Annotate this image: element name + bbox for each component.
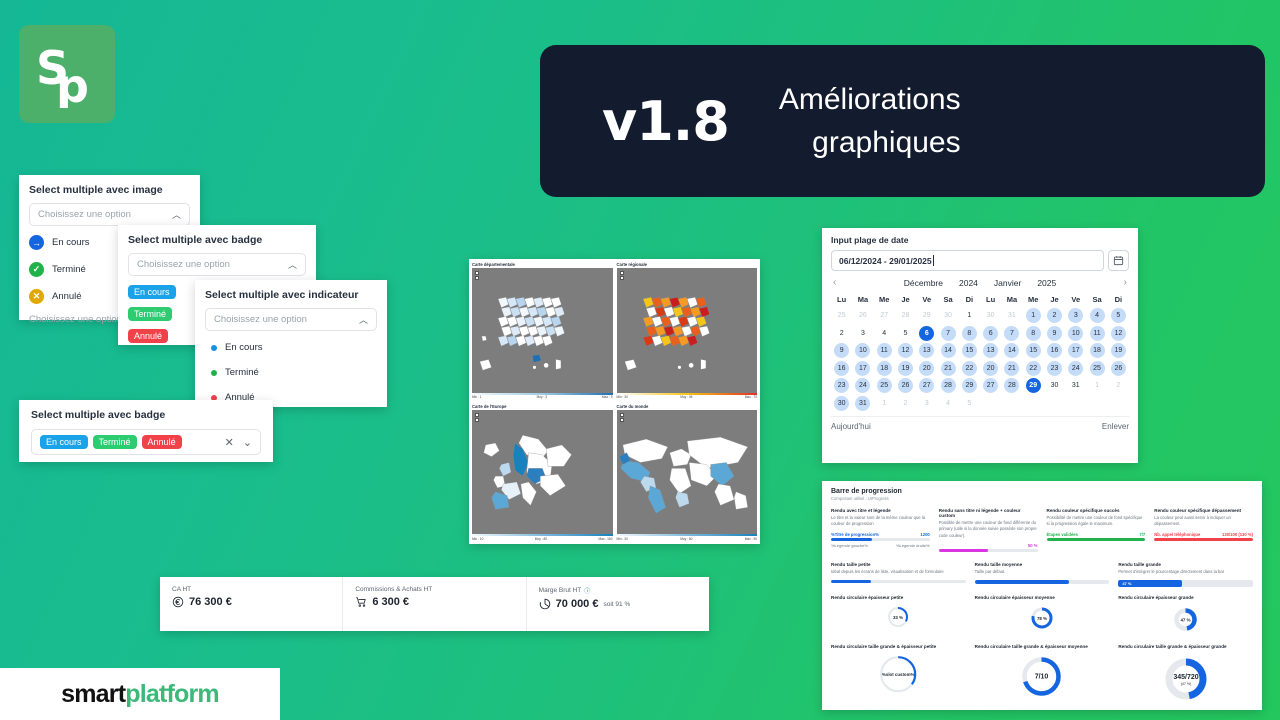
- calendar-day[interactable]: 31: [855, 396, 870, 411]
- calendar-day[interactable]: 27: [919, 378, 934, 393]
- calendar-day[interactable]: 1: [1090, 378, 1105, 393]
- banner-text: Améliorations graphiques: [779, 78, 961, 165]
- calendar-cell[interactable]: 20: [916, 360, 937, 378]
- calendar-day[interactable]: 28: [898, 308, 913, 323]
- right-month-label[interactable]: Janvier: [994, 278, 1021, 288]
- calendar-day[interactable]: 10: [855, 343, 870, 358]
- weekday-header: Je: [895, 292, 916, 307]
- map-canvas[interactable]: [617, 268, 758, 393]
- calendar-cell[interactable]: 14: [937, 342, 958, 360]
- selected-badge[interactable]: En cours: [40, 435, 88, 449]
- calendar-day[interactable]: 17: [855, 361, 870, 376]
- calendar-cell[interactable]: 26: [1108, 360, 1129, 378]
- calendar-day[interactable]: 16: [1047, 343, 1062, 358]
- calendar-day[interactable]: 2: [1047, 308, 1062, 323]
- sp-logo-icon: S p: [36, 40, 98, 108]
- calendar-cell[interactable]: 28: [1001, 377, 1022, 395]
- calendar-cell[interactable]: 5: [1108, 307, 1129, 325]
- calendar-day[interactable]: 29: [962, 378, 977, 393]
- calendar-cell[interactable]: 9: [831, 342, 852, 360]
- calendar-cell[interactable]: [1023, 395, 1044, 413]
- calendar-day[interactable]: 19: [898, 361, 913, 376]
- calendar-cell[interactable]: 5: [959, 395, 980, 413]
- left-year-label[interactable]: 2024: [959, 278, 978, 288]
- calendar-cell[interactable]: 25: [1086, 360, 1107, 378]
- month-year-labels: Décembre 2024 Janvier 2025: [836, 278, 1123, 288]
- progress-ring-item: Rendu circulaire taille grande & épaisse…: [831, 644, 966, 706]
- progress-ring: 33 %: [884, 603, 912, 631]
- calendar-cell[interactable]: 6: [980, 325, 1001, 343]
- calendar-nav: ‹ Décembre 2024 Janvier 2025 ›: [831, 277, 1129, 288]
- calendar-day[interactable]: 10: [1068, 326, 1083, 341]
- cart-icon: [355, 596, 367, 608]
- progress-rings-large-row: Rendu circulaire taille grande & épaisse…: [831, 644, 1253, 706]
- legend-mid: Moy : 80: [535, 537, 547, 541]
- calendar-day[interactable]: 4: [941, 396, 956, 411]
- calendar-day[interactable]: 22: [962, 361, 977, 376]
- calendar-day[interactable]: 18: [877, 361, 892, 376]
- calendar-cell[interactable]: 11: [874, 342, 895, 360]
- weekday-header: Lu: [831, 292, 852, 307]
- calendar-cell[interactable]: 28: [895, 307, 916, 325]
- calendar-day[interactable]: 5: [898, 326, 913, 341]
- progress-bar-item: Rendu sans titre ni légende + couleur cu…: [939, 508, 1038, 554]
- calendar-day[interactable]: 11: [877, 343, 892, 358]
- legend-max: Max : 70: [745, 395, 757, 399]
- ring-label: 47 %: [1181, 617, 1191, 622]
- option-indicator-icon: [211, 370, 217, 376]
- calendar-day[interactable]: 3: [855, 326, 870, 341]
- calendar-day[interactable]: 7: [941, 326, 956, 341]
- calendar-day[interactable]: 24: [1068, 361, 1083, 376]
- version-label: v1.8: [602, 90, 729, 153]
- progress-right-label: 1200: [920, 532, 929, 537]
- card-title: Select multiple avec badge: [31, 409, 261, 421]
- calendar-cell[interactable]: 1: [1086, 377, 1107, 395]
- calendar-cell[interactable]: [1065, 395, 1086, 413]
- calendar-day[interactable]: 3: [1068, 308, 1083, 323]
- calendar-cell[interactable]: 5: [895, 325, 916, 343]
- calendar-day[interactable]: 30: [941, 308, 956, 323]
- calendar-cell[interactable]: 31: [852, 395, 873, 413]
- calendar-cell[interactable]: 16: [1044, 342, 1065, 360]
- calendar-day[interactable]: 8: [1026, 326, 1041, 341]
- calendar-cell[interactable]: 25: [874, 377, 895, 395]
- calendar-day[interactable]: 1: [877, 396, 892, 411]
- calendar-day[interactable]: 27: [983, 378, 998, 393]
- select-placeholder: Choisissez une option: [137, 259, 230, 270]
- progress-sub-right: %Légende droite%: [896, 543, 930, 548]
- calendar-cell[interactable]: 17: [1065, 342, 1086, 360]
- map-zoom-controls[interactable]: [620, 271, 624, 280]
- calendar-cell[interactable]: 13: [980, 342, 1001, 360]
- clear-button[interactable]: Enlever: [1102, 422, 1129, 431]
- calendar-day[interactable]: 28: [941, 378, 956, 393]
- map-title: Carte régionale: [617, 262, 758, 267]
- select-option-badge[interactable]: Terminé: [128, 307, 172, 321]
- calendar-day[interactable]: 17: [1068, 343, 1083, 358]
- calendar-day[interactable]: 25: [877, 378, 892, 393]
- calendar-day[interactable]: 8: [962, 326, 977, 341]
- calendar-cell[interactable]: 24: [1065, 360, 1086, 378]
- calendar-day[interactable]: 19: [1111, 343, 1126, 358]
- calendar-day[interactable]: 7: [1004, 326, 1019, 341]
- calendar-day[interactable]: 20: [983, 361, 998, 376]
- calendar-day[interactable]: 25: [834, 308, 849, 323]
- date-range-input[interactable]: 06/12/2024 - 29/01/2025: [831, 250, 1104, 271]
- calendar-cell[interactable]: 30: [937, 307, 958, 325]
- calendar-cell[interactable]: 19: [1108, 342, 1129, 360]
- chevron-up-icon: ︿: [359, 313, 368, 326]
- left-month-label[interactable]: Décembre: [904, 278, 943, 288]
- progress-right-label: 130/100 (130 %): [1222, 532, 1253, 537]
- calendar-day[interactable]: 12: [898, 343, 913, 358]
- progress-panel-subtitle: Composant utilisé : UIProgress: [831, 496, 1253, 501]
- kpi-label-text: Commissions & Achats HT: [355, 586, 432, 593]
- select-placeholder: Choisissez une option: [38, 209, 131, 220]
- progress-rings-small-row: Rendu circulaire épaisseur petite 33 %Re…: [831, 595, 1253, 636]
- progress-item-desc: Le titre et la valeur sont de la même co…: [831, 515, 930, 528]
- calendar-cell[interactable]: 29: [1023, 377, 1044, 395]
- progress-item-title: Rendu circulaire taille grande & épaisse…: [1118, 644, 1253, 649]
- calendar-day[interactable]: 29: [919, 308, 934, 323]
- calendar-day[interactable]: 4: [1090, 308, 1105, 323]
- calendar-day[interactable]: 2: [898, 396, 913, 411]
- calendar-day[interactable]: 21: [1004, 361, 1019, 376]
- banner-line-1: Améliorations: [779, 78, 961, 122]
- calendar-cell[interactable]: 4: [937, 395, 958, 413]
- calendar-day[interactable]: 6: [919, 326, 934, 341]
- calendar-cell[interactable]: 27: [980, 377, 1001, 395]
- selected-badge[interactable]: Annulé: [142, 435, 182, 449]
- select-option[interactable]: En cours: [211, 342, 377, 353]
- progress-item-title: Rendu circulaire épaisseur petite: [831, 595, 966, 600]
- kpi-value: 76 300 €: [189, 596, 232, 608]
- map-zoom-controls[interactable]: [620, 413, 624, 422]
- progress-item-title: Rendu taille petite: [831, 562, 966, 567]
- calendar-cell[interactable]: 16: [831, 360, 852, 378]
- calendar-day[interactable]: 31: [1004, 308, 1019, 323]
- calendar-cell[interactable]: 30: [831, 395, 852, 413]
- kpi-card: Marge Brut HTⓘ70 000 €soit 91 %: [527, 577, 709, 631]
- calendar-day[interactable]: 9: [1047, 326, 1062, 341]
- calendar-cell[interactable]: 3: [1065, 307, 1086, 325]
- calendar-cell[interactable]: 18: [1086, 342, 1107, 360]
- select-input[interactable]: Choisissez une option ︿: [128, 253, 306, 276]
- calendar-cell[interactable]: 30: [980, 307, 1001, 325]
- datepicker-title: Input plage de date: [831, 235, 1129, 245]
- calendar-day[interactable]: 26: [898, 378, 913, 393]
- progress-item-title: Rendu circulaire épaisseur grande: [1118, 595, 1253, 600]
- progress-sizes-row: Rendu taille petite Idéal depuis les écr…: [831, 562, 1253, 586]
- clear-icon[interactable]: ✕: [225, 436, 234, 449]
- map-cell: Carte départementale Min : 1Moy : 3Max :…: [472, 262, 613, 400]
- calendar-icon[interactable]: [1108, 250, 1129, 271]
- app-logo-tile: S p: [19, 25, 115, 123]
- progress-fill: [939, 549, 988, 552]
- option-label: En cours: [52, 237, 90, 248]
- progress-track: [939, 549, 1038, 552]
- select-options-list: En coursTerminéAnnulé: [205, 342, 377, 403]
- calendar-day[interactable]: 27: [877, 308, 892, 323]
- weekday-header: Sa: [937, 292, 958, 307]
- progress-track: 47 %: [1118, 580, 1253, 587]
- select-option-badge[interactable]: En cours: [128, 285, 176, 299]
- calendar-cell[interactable]: 28: [937, 377, 958, 395]
- calendar-day[interactable]: 30: [983, 308, 998, 323]
- map-canvas[interactable]: [617, 410, 758, 535]
- ring-label: 78 %: [1037, 616, 1047, 621]
- progress-fill: 47 %: [1118, 580, 1181, 587]
- kpi-strip: CA HT76 300 €Commissions & Achats HT6 30…: [160, 577, 709, 631]
- brand-smart: smart: [61, 680, 125, 709]
- calendar-cell[interactable]: 23: [831, 377, 852, 395]
- calendar-day[interactable]: 13: [983, 343, 998, 358]
- legend-min: Min : 1: [472, 395, 482, 399]
- calendar-cell[interactable]: 7: [937, 325, 958, 343]
- calendar-cell[interactable]: 4: [874, 325, 895, 343]
- calendar-cell[interactable]: 29: [959, 377, 980, 395]
- progress-ring-item: Rendu circulaire épaisseur moyenne 78 %: [975, 595, 1110, 636]
- release-banner: v1.8 Améliorations graphiques: [540, 45, 1265, 197]
- calendar-cell[interactable]: 31: [1001, 307, 1022, 325]
- calendar-cell[interactable]: 15: [959, 342, 980, 360]
- map-zoom-controls[interactable]: [475, 271, 479, 280]
- progress-ring: 345/720(47 %): [1159, 652, 1213, 706]
- calendar-day[interactable]: 14: [941, 343, 956, 358]
- select-input[interactable]: Choisissez une option ︿: [205, 308, 377, 331]
- select-input[interactable]: Choisissez une option ︿: [29, 203, 190, 226]
- next-month-button[interactable]: ›: [1124, 277, 1127, 288]
- calendar-cell[interactable]: 22: [959, 360, 980, 378]
- calendar-day[interactable]: 5: [1111, 308, 1126, 323]
- calendar-cell[interactable]: [1001, 395, 1022, 413]
- today-button[interactable]: Aujourd'hui: [831, 422, 871, 431]
- option-label: Terminé: [225, 367, 259, 378]
- calendar-day[interactable]: 24: [855, 378, 870, 393]
- card-title: Select multiple avec badge: [128, 234, 306, 246]
- calendar-cell[interactable]: 3: [916, 395, 937, 413]
- calendar-cell[interactable]: 27: [874, 307, 895, 325]
- calendar-day[interactable]: 1: [962, 308, 977, 323]
- brand-platform: platform: [125, 680, 219, 709]
- legend-max: Max : 90: [745, 537, 757, 541]
- banner-line-2: graphiques: [779, 121, 961, 165]
- calendar-day[interactable]: 15: [1026, 343, 1041, 358]
- calendar-cell[interactable]: 9: [1044, 325, 1065, 343]
- calendar-cell[interactable]: 1: [1023, 307, 1044, 325]
- progress-item-desc: Taille par défaut.: [975, 569, 1110, 575]
- map-cell: Carte de l'Europe Min : 10Moy : 80Max : …: [472, 404, 613, 542]
- progress-item-desc: Possible de mettre une couleur de fond d…: [939, 520, 1038, 539]
- calendar-day[interactable]: 30: [1047, 378, 1062, 393]
- calendar-cell[interactable]: 21: [1001, 360, 1022, 378]
- calendar-day[interactable]: 9: [834, 343, 849, 358]
- calendar-day[interactable]: 5: [962, 396, 977, 411]
- calendar-cell[interactable]: 12: [1108, 325, 1129, 343]
- calendar-day[interactable]: 4: [877, 326, 892, 341]
- calendar-cell[interactable]: 15: [1023, 342, 1044, 360]
- calendar-cell[interactable]: 12: [895, 342, 916, 360]
- euro-circle-icon: [172, 596, 184, 608]
- progress-left-label: %Titre de progression%: [831, 532, 879, 537]
- calendar-cell[interactable]: [1044, 395, 1065, 413]
- legend-mid: Moy : 45: [680, 395, 692, 399]
- calendar-cell[interactable]: 1: [874, 395, 895, 413]
- calendar-cell[interactable]: 11: [1086, 325, 1107, 343]
- chevron-down-icon[interactable]: ⌄: [243, 436, 252, 449]
- calendar-day[interactable]: 20: [919, 361, 934, 376]
- calendar-day[interactable]: 14: [1004, 343, 1019, 358]
- calendar-day[interactable]: 3: [919, 396, 934, 411]
- kpi-value: 6 300 €: [372, 596, 409, 608]
- progress-ring: %slot custom%: [876, 652, 920, 696]
- progress-bars-row: Rendu avec titre et légende Le titre et …: [831, 508, 1253, 554]
- select-option[interactable]: Terminé: [211, 367, 377, 378]
- calendar-cell[interactable]: 26: [852, 307, 873, 325]
- calendar-cell[interactable]: 18: [874, 360, 895, 378]
- kpi-label: Marge Brut HTⓘ: [539, 586, 697, 595]
- progress-left-label: Étapes validées: [1047, 532, 1078, 537]
- selected-badge[interactable]: Terminé: [93, 435, 137, 449]
- pie-icon: [539, 598, 551, 610]
- progress-item-desc: La couleur peut aussi servir à indiquer …: [1154, 515, 1253, 528]
- calendar-day[interactable]: 16: [834, 361, 849, 376]
- weekday-header: Lu: [980, 292, 1001, 307]
- calendar-cell[interactable]: 17: [852, 360, 873, 378]
- calendar-cell[interactable]: 29: [916, 307, 937, 325]
- calendar-grid: LuMaMeJeVeSaDiLuMaMeJeVeSaDi252627282930…: [831, 292, 1129, 412]
- calendar-day[interactable]: 26: [1111, 361, 1126, 376]
- calendar-day[interactable]: 30: [834, 396, 849, 411]
- calendar-day[interactable]: 22: [1026, 361, 1041, 376]
- calendar-day[interactable]: 23: [834, 378, 849, 393]
- calendar-cell[interactable]: 26: [895, 377, 916, 395]
- calendar-cell[interactable]: [1086, 395, 1107, 413]
- calendar-cell[interactable]: [1108, 395, 1129, 413]
- ring-label: 33 %: [893, 615, 903, 620]
- calendar-cell[interactable]: 21: [937, 360, 958, 378]
- map-zoom-controls[interactable]: [475, 413, 479, 422]
- progress-fill: [1047, 538, 1146, 541]
- calendar-cell[interactable]: [980, 395, 1001, 413]
- calendar-cell[interactable]: 1: [959, 307, 980, 325]
- calendar-day[interactable]: 2: [1111, 378, 1126, 393]
- calendar-cell[interactable]: 10: [1065, 325, 1086, 343]
- calendar-cell[interactable]: 14: [1001, 342, 1022, 360]
- calendar-day[interactable]: 31: [1068, 378, 1083, 393]
- right-year-label[interactable]: 2025: [1037, 278, 1056, 288]
- calendar-cell[interactable]: 4: [1086, 307, 1107, 325]
- progress-sub-left: %Légende gauche%: [831, 543, 868, 548]
- weekday-header: Ma: [852, 292, 873, 307]
- calendar-day[interactable]: 18: [1090, 343, 1105, 358]
- calendar-cell[interactable]: 13: [916, 342, 937, 360]
- calendar-day[interactable]: 25: [1090, 361, 1105, 376]
- progress-bar-item: Rendu couleur spécifique dépassement La …: [1154, 508, 1253, 554]
- calendar-cell[interactable]: 2: [895, 395, 916, 413]
- select-placeholder: Choisissez une option: [214, 314, 307, 325]
- select-option-badge[interactable]: Annulé: [128, 329, 168, 343]
- kpi-card: Commissions & Achats HT6 300 €: [343, 577, 526, 631]
- calendar-cell[interactable]: 3: [852, 325, 873, 343]
- progress-item-desc: Idéal depuis les écrans de liste, visual…: [831, 569, 966, 575]
- calendar-day[interactable]: 1: [1026, 308, 1041, 323]
- calendar-day[interactable]: 26: [855, 308, 870, 323]
- calendar-cell[interactable]: 27: [916, 377, 937, 395]
- calendar-cell[interactable]: 6: [916, 325, 937, 343]
- calendar-cell[interactable]: 7: [1001, 325, 1022, 343]
- option-label: Terminé: [52, 264, 86, 275]
- ring-label: 7/10: [1035, 673, 1049, 680]
- calendar-cell[interactable]: 30: [1044, 377, 1065, 395]
- calendar-cell[interactable]: 2: [1108, 377, 1129, 395]
- calendar-day[interactable]: 13: [919, 343, 934, 358]
- calendar-cell[interactable]: 10: [852, 342, 873, 360]
- map-canvas[interactable]: [472, 268, 613, 393]
- progress-item-title: Rendu avec titre et légende: [831, 508, 930, 513]
- progress-track: [831, 538, 930, 541]
- weekday-header: Me: [1023, 292, 1044, 307]
- calendar-cell[interactable]: 23: [1044, 360, 1065, 378]
- calendar-day[interactable]: 28: [1004, 378, 1019, 393]
- map-canvas[interactable]: [472, 410, 613, 535]
- option-icon: →: [29, 235, 44, 250]
- calendar-cell[interactable]: 2: [1044, 307, 1065, 325]
- progress-item-desc: Permet d'intégrer le pourcentage directe…: [1118, 569, 1253, 575]
- ring-label: %slot custom%: [882, 672, 914, 677]
- calendar-cell[interactable]: 31: [1065, 377, 1086, 395]
- calendar-day[interactable]: 21: [941, 361, 956, 376]
- calendar-day[interactable]: 12: [1111, 326, 1126, 341]
- calendar-cell[interactable]: 19: [895, 360, 916, 378]
- calendar-day[interactable]: 11: [1090, 326, 1105, 341]
- map-legend: Min : 10Moy : 80Max : 150: [472, 534, 613, 541]
- kpi-value-row: 76 300 €: [172, 596, 330, 608]
- progress-item-title: Rendu couleur spécifique dépassement: [1154, 508, 1253, 513]
- progress-size-item: Rendu taille grande Permet d'intégrer le…: [1118, 562, 1253, 586]
- calendar-cell[interactable]: 22: [1023, 360, 1044, 378]
- calendar-cell[interactable]: 25: [831, 307, 852, 325]
- map-legend: Min : 30Moy : 50Max : 90: [617, 534, 758, 541]
- calendar-cell[interactable]: 2: [831, 325, 852, 343]
- calendar-day[interactable]: 6: [983, 326, 998, 341]
- calendar-day[interactable]: 29: [1026, 378, 1041, 393]
- select-value-box[interactable]: En coursTerminéAnnulé ✕ ⌄: [31, 429, 261, 455]
- calendar-cell[interactable]: 24: [852, 377, 873, 395]
- calendar-cell[interactable]: 20: [980, 360, 1001, 378]
- calendar-day[interactable]: 23: [1047, 361, 1062, 376]
- progress-ring-item: Rendu circulaire taille grande & épaisse…: [975, 644, 1110, 706]
- progress-ring: 7/10: [1017, 652, 1066, 701]
- select-multiple-indicator-card: Select multiple avec indicateur Choisiss…: [195, 280, 387, 407]
- kpi-label-text: Marge Brut HT: [539, 587, 582, 594]
- calendar-cell[interactable]: 8: [1023, 325, 1044, 343]
- calendar-day[interactable]: 15: [962, 343, 977, 358]
- weekday-header: Sa: [1086, 292, 1107, 307]
- info-icon[interactable]: ⓘ: [584, 586, 590, 595]
- progress-ring: 47 %: [1169, 603, 1202, 636]
- kpi-subvalue: soit 91 %: [603, 601, 630, 608]
- legend-mid: Moy : 3: [537, 395, 547, 399]
- calendar-cell[interactable]: 8: [959, 325, 980, 343]
- progress-fill: [1154, 538, 1253, 541]
- legend-min: Min : 30: [617, 537, 628, 541]
- progress-item-title: Rendu taille moyenne: [975, 562, 1110, 567]
- svg-text:p: p: [56, 59, 89, 108]
- calendar-day[interactable]: 2: [834, 326, 849, 341]
- footer-logo: smartplatform: [0, 668, 280, 720]
